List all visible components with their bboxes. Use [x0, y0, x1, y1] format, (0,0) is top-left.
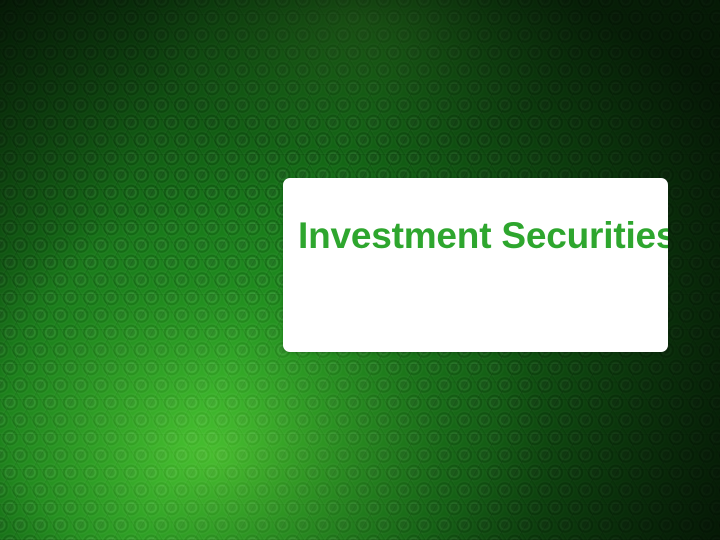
- title-content-box: Investment Securities: [283, 178, 668, 352]
- presentation-slide: Investment Securities: [0, 0, 720, 540]
- slide-title: Investment Securities: [298, 214, 654, 258]
